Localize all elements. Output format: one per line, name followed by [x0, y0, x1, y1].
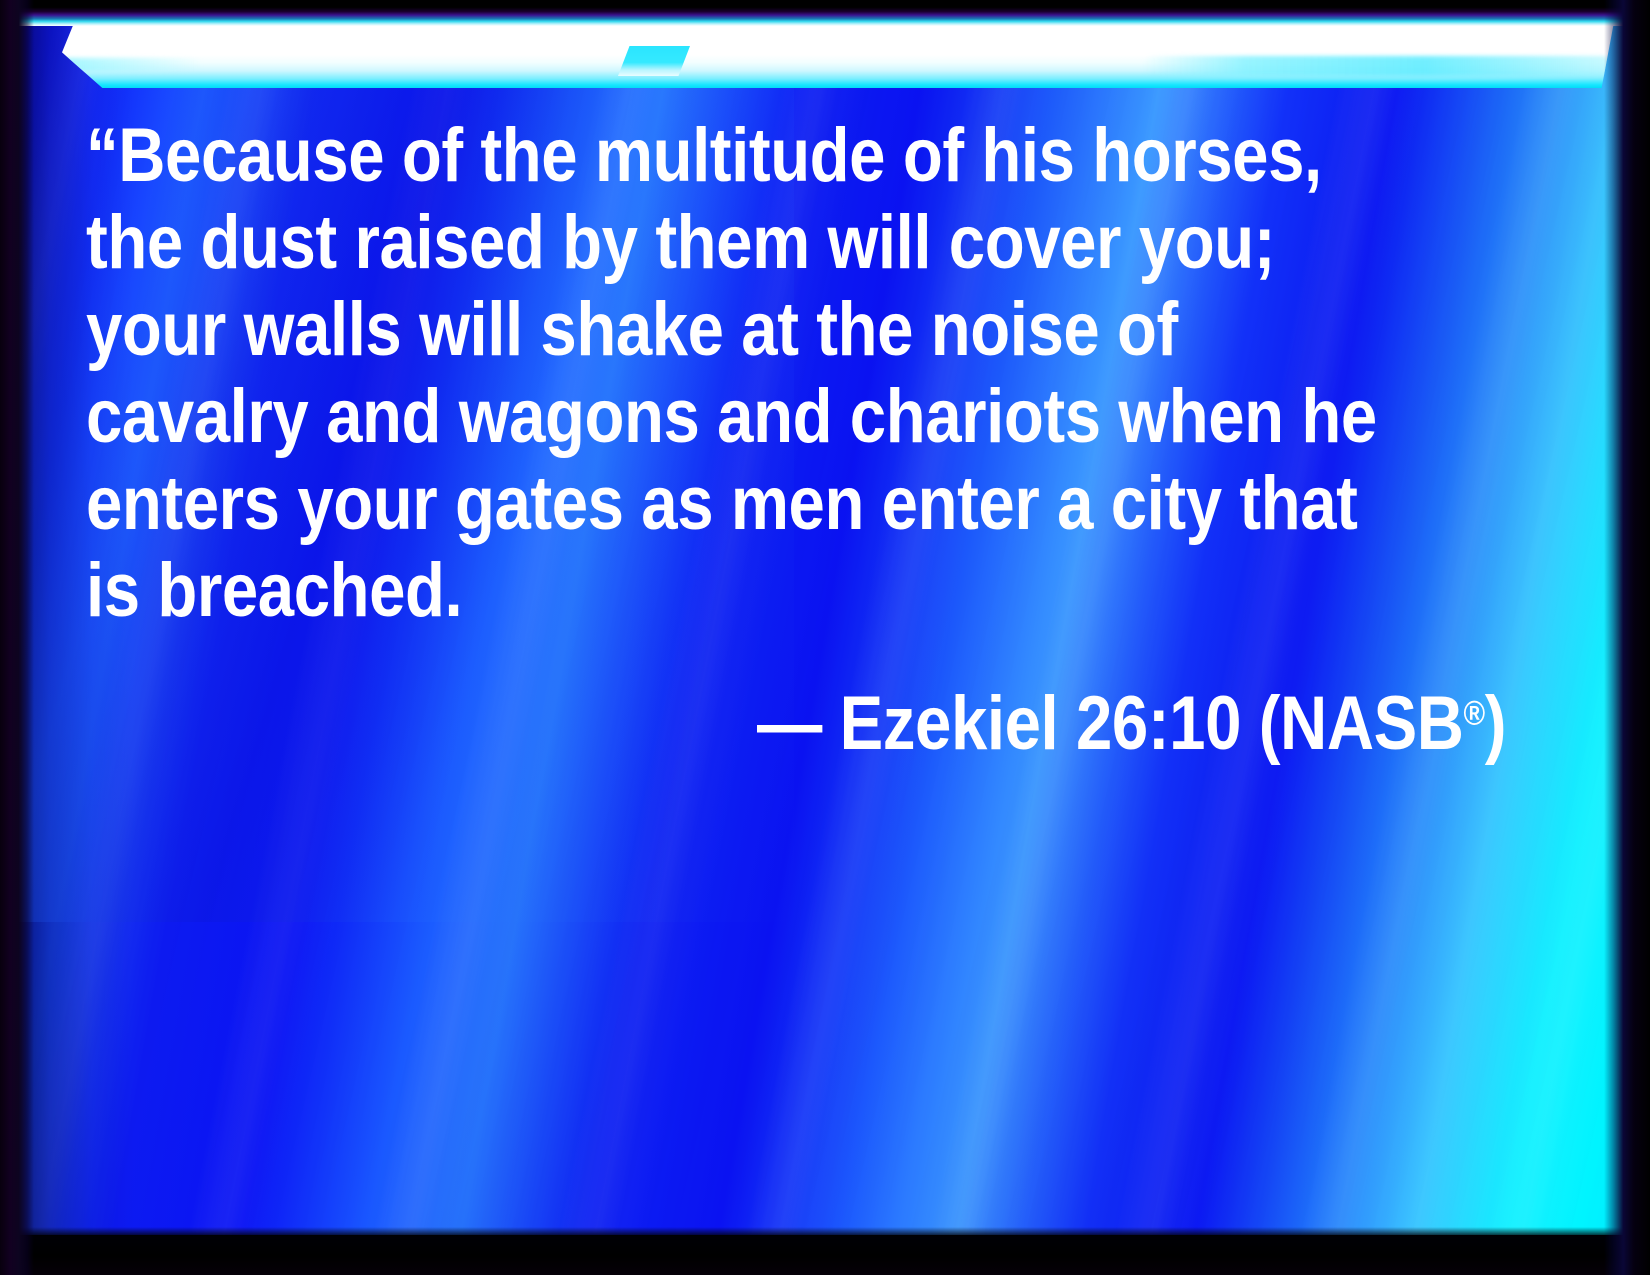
frame-border-bottom — [0, 1227, 1650, 1275]
attribution-prefix: — Ezekiel 26:10 (NASB — [757, 681, 1464, 766]
verse-slide: “Because of the multitude of his horses,… — [0, 0, 1650, 1275]
verse-line: the dust raised by them will cover you; — [86, 199, 1307, 286]
banner-notch-icon — [618, 46, 690, 76]
banner-wisp-left — [62, 58, 202, 72]
top-banner — [14, 22, 1636, 94]
verse-line: “Because of the multitude of his horses, — [86, 112, 1307, 199]
verse-attribution: — Ezekiel 26:10 (NASB®) — [86, 682, 1506, 766]
registered-trademark-icon: ® — [1463, 694, 1484, 732]
verse-text-block: “Because of the multitude of his horses,… — [86, 112, 1506, 766]
banner-shape — [62, 22, 1614, 88]
verse-line: your walls will shake at the noise of — [86, 286, 1307, 373]
frame-border-right — [1604, 0, 1650, 1275]
frame-border-top — [0, 0, 1650, 26]
verse-line: is breached. — [86, 547, 1307, 634]
verse-line: enters your gates as men enter a city th… — [86, 460, 1307, 547]
frame-border-left — [0, 0, 34, 1275]
attribution-suffix: ) — [1485, 681, 1506, 766]
banner-wisp-right — [1142, 56, 1612, 76]
verse-line: cavalry and wagons and chariots when he — [86, 373, 1307, 460]
